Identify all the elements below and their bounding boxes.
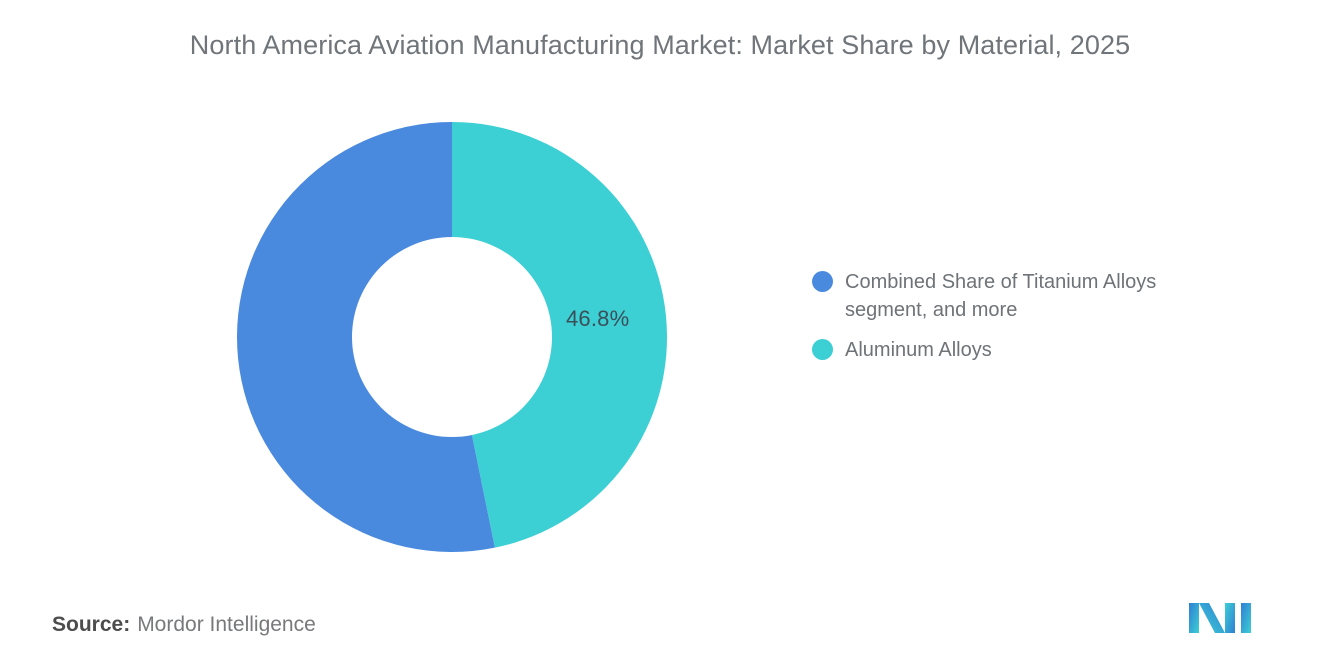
legend-label-combined-share-of-titanium-alloys: Combined Share of Titanium Alloys segmen…	[845, 268, 1205, 324]
donut-chart	[237, 122, 667, 552]
donut-slice-value-label: 46.8%	[566, 306, 629, 332]
legend-item-combined-share-of-titanium-alloys[interactable]: Combined Share of Titanium Alloys segmen…	[812, 268, 1242, 324]
source-line: Source:Mordor Intelligence	[52, 613, 316, 637]
chart-canvas: North America Aviation Manufacturing Mar…	[0, 0, 1320, 665]
chart-legend: Combined Share of Titanium Alloys segmen…	[812, 268, 1242, 376]
chart-title: North America Aviation Manufacturing Mar…	[0, 30, 1320, 61]
legend-item-aluminum-alloys[interactable]: Aluminum Alloys	[812, 336, 1242, 364]
donut-hole	[352, 237, 552, 437]
source-value: Mordor Intelligence	[137, 613, 316, 636]
legend-swatch-icon-aluminum-alloys	[812, 339, 833, 360]
source-label: Source:	[52, 613, 130, 636]
mordor-intelligence-logo-icon	[1185, 597, 1257, 639]
legend-label-aluminum-alloys: Aluminum Alloys	[845, 336, 992, 364]
legend-swatch-icon-combined-share-of-titanium-alloys	[812, 271, 833, 292]
donut-chart-svg	[237, 122, 667, 552]
